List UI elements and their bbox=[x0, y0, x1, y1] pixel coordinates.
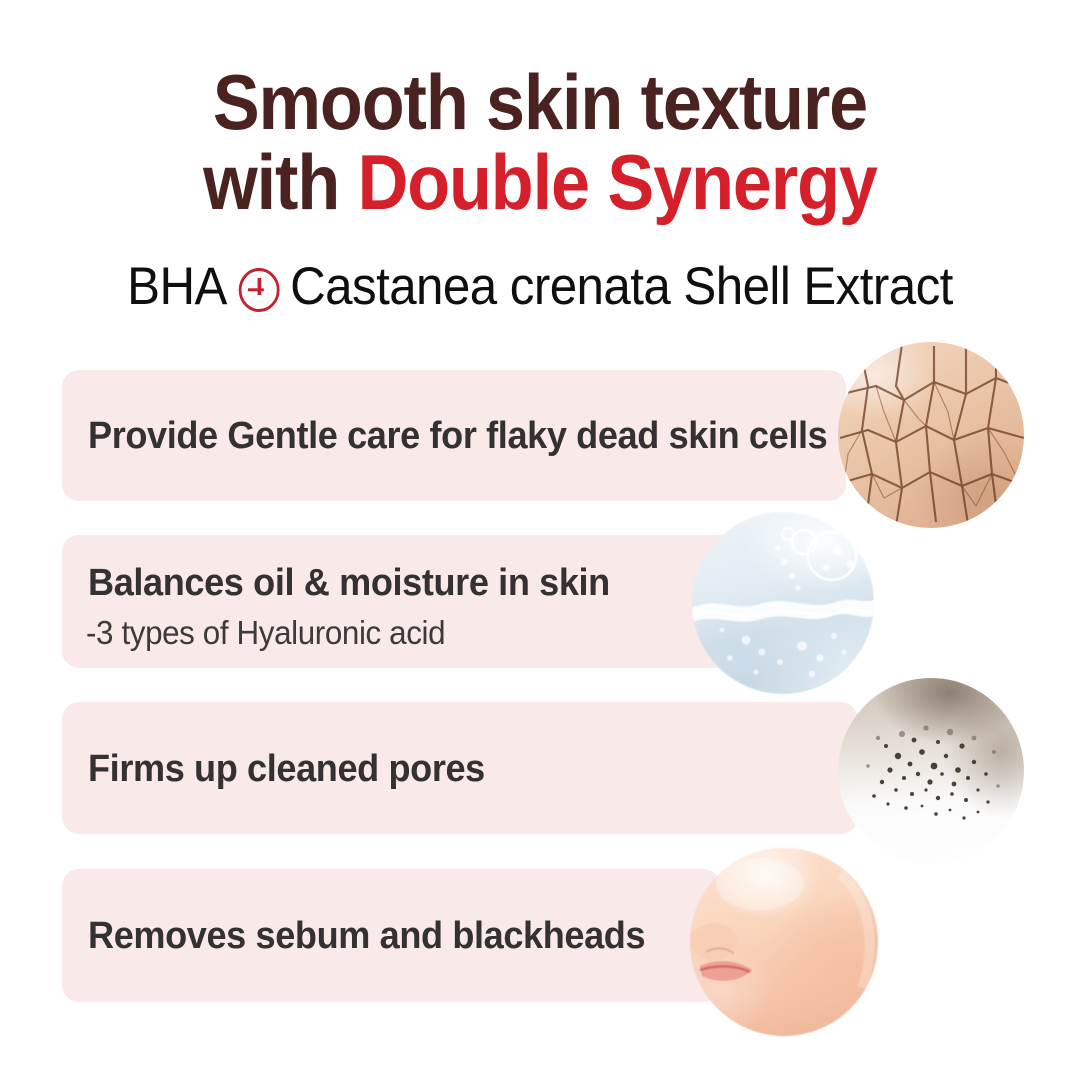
circled-plus-icon bbox=[239, 268, 280, 312]
headline-line-1: Smooth skin texture bbox=[54, 62, 1026, 142]
subtitle-left: BHA bbox=[127, 256, 227, 317]
benefit-title: Balances oil & moisture in skin bbox=[88, 562, 610, 605]
benefit-title: Firms up cleaned pores bbox=[88, 748, 485, 791]
benefit-title: Provide Gentle care for flaky dead skin … bbox=[88, 415, 827, 458]
water-bubbles-icon bbox=[692, 512, 874, 694]
benefit-subtitle: -3 types of Hyaluronic acid bbox=[86, 614, 445, 652]
dust-particles-photo bbox=[838, 678, 1024, 864]
headline-line-2: with Double Synergy bbox=[54, 142, 1026, 222]
headline-line-2-accent: Double Synergy bbox=[358, 138, 877, 226]
subtitle: BHA Castanea crenata Shell Extract bbox=[38, 256, 1042, 317]
face-features-icon bbox=[690, 848, 878, 1036]
infographic-page: Smooth skin texture with Double Synergy … bbox=[0, 0, 1080, 1080]
subtitle-right: Castanea crenata Shell Extract bbox=[290, 256, 953, 317]
cracked-dry-skin-photo bbox=[838, 342, 1024, 528]
headline-line-2-prefix: with bbox=[203, 138, 357, 226]
dust-specks-icon bbox=[838, 678, 1024, 864]
benefit-title: Removes sebum and blackheads bbox=[88, 915, 645, 958]
page-title: Smooth skin texture with Double Synergy bbox=[54, 62, 1026, 223]
crack-lines-icon bbox=[838, 342, 1024, 528]
close-up-skin-face-photo bbox=[690, 848, 878, 1036]
water-bubbles-photo bbox=[692, 512, 874, 694]
